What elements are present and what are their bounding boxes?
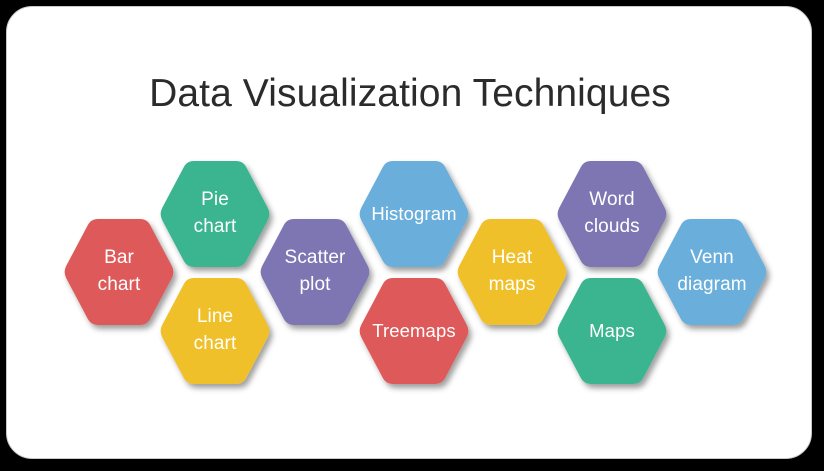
hexagon-shape-treemaps bbox=[358, 278, 470, 384]
hexagon-pie-chart[interactable]: Pie chart bbox=[159, 161, 271, 267]
hexagon-shape-heat-maps bbox=[456, 219, 568, 325]
slide-card: Data Visualization Techniques Bar chartP… bbox=[6, 6, 812, 459]
hexagon-histogram[interactable]: Histogram bbox=[358, 161, 470, 267]
hexagon-shape-venn-diagram bbox=[656, 219, 768, 325]
hexagon-shape-histogram bbox=[358, 161, 470, 267]
hexagon-shape-word-clouds bbox=[556, 161, 668, 267]
hexagon-shape-scatter-plot bbox=[259, 219, 371, 325]
hexagon-treemaps[interactable]: Treemaps bbox=[358, 278, 470, 384]
hexagon-venn-diagram[interactable]: Venn diagram bbox=[656, 219, 768, 325]
hexagon-honeycomb-diagram: Bar chartPie chartLine chartScatter plot… bbox=[7, 7, 812, 459]
hexagon-word-clouds[interactable]: Word clouds bbox=[556, 161, 668, 267]
hexagon-line-chart[interactable]: Line chart bbox=[159, 278, 271, 384]
hexagon-heat-maps[interactable]: Heat maps bbox=[456, 219, 568, 325]
hexagon-shape-maps bbox=[556, 278, 668, 384]
hexagon-shape-pie-chart bbox=[159, 161, 271, 267]
hexagon-maps[interactable]: Maps bbox=[556, 278, 668, 384]
hexagon-scatter-plot[interactable]: Scatter plot bbox=[259, 219, 371, 325]
hexagon-shape-line-chart bbox=[159, 278, 271, 384]
